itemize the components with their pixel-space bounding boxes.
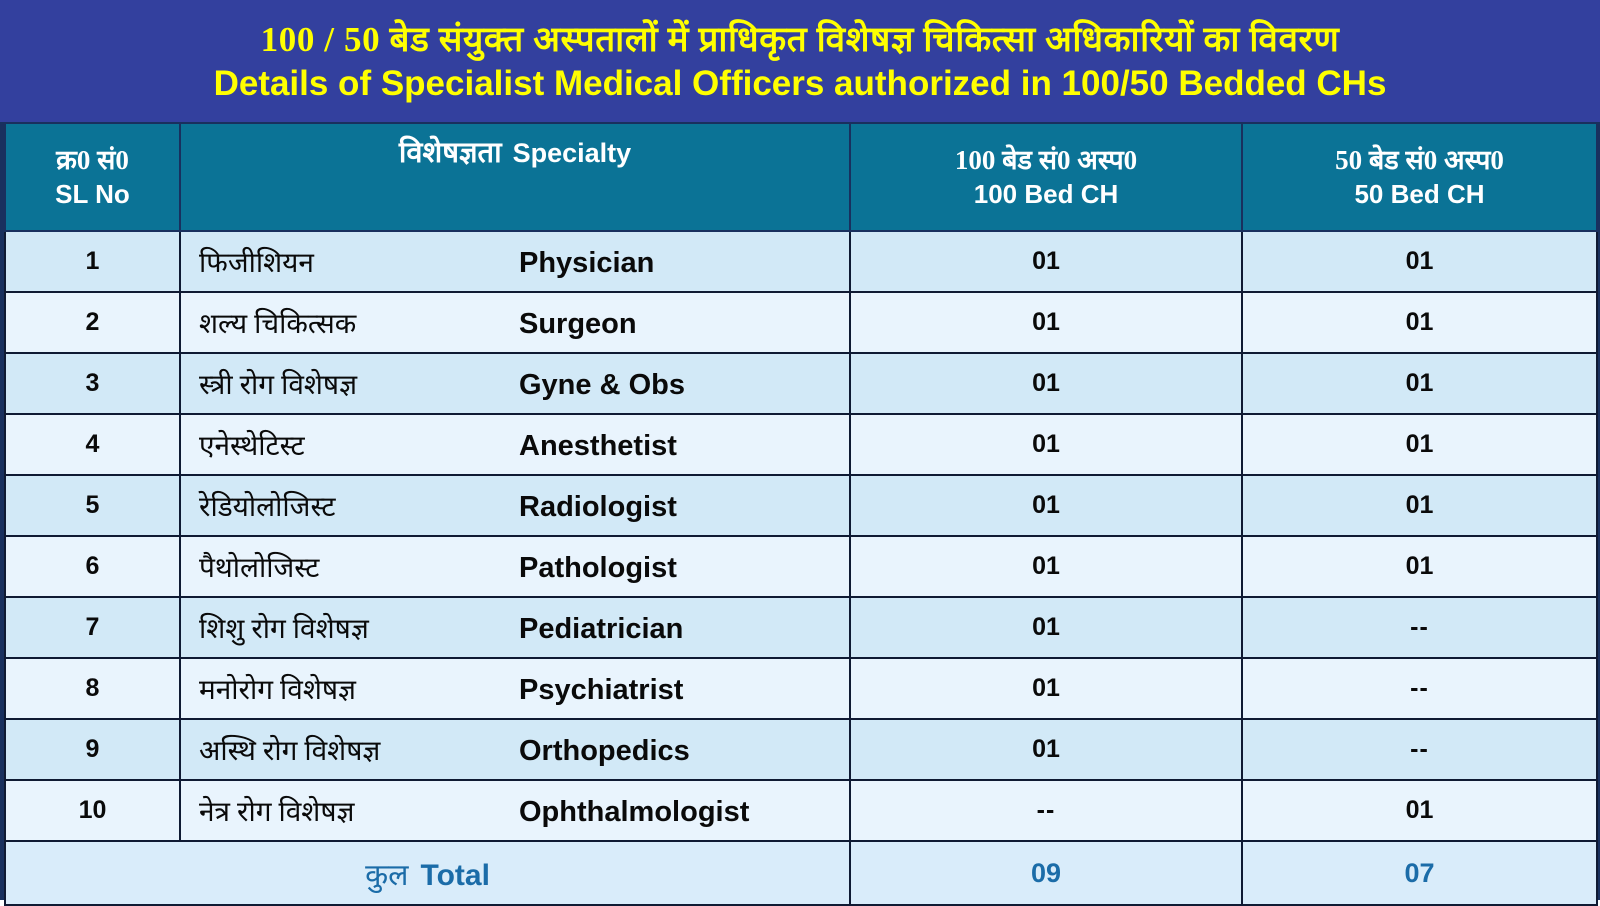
- cell-sl-no: 1: [5, 231, 180, 292]
- cell-50-bed-count: 01: [1242, 536, 1597, 597]
- cell-specialty-english: Gyne & Obs: [519, 369, 685, 402]
- table-body: 1 फिजीशियन Physician 01 01 2 शल्य चिकि: [5, 231, 1597, 841]
- cell-specialty-hindi: रेडियोलोजिस्ट: [199, 487, 519, 525]
- cell-specialty-hindi: मनोरोग विशेषज्ञ: [199, 670, 519, 708]
- table-row: 4 एनेस्थेटिस्ट Anesthetist 01 01: [5, 414, 1597, 475]
- total-label-cell: कुल Total: [5, 841, 850, 905]
- cell-100-bed-count: 01: [850, 353, 1242, 414]
- column-header-100-bed-ch-hindi: 100 बेड सं0 अस्प0: [955, 145, 1137, 176]
- cell-specialty: शिशु रोग विशेषज्ञ Pediatrician: [180, 597, 850, 658]
- cell-100-bed-count: 01: [850, 597, 1242, 658]
- cell-specialty-english: Psychiatrist: [519, 674, 683, 707]
- total-label-hindi: कुल: [365, 853, 408, 894]
- cell-specialty-english: Physician: [519, 247, 654, 280]
- cell-specialty-hindi: नेत्र रोग विशेषज्ञ: [199, 792, 519, 830]
- cell-50-bed-count: 01: [1242, 414, 1597, 475]
- table-footer: कुल Total 09 07: [5, 841, 1597, 905]
- specialist-officers-table: क्र0 सं0 SL No विशेषज्ञता Specialty: [4, 122, 1598, 906]
- cell-50-bed-count: 01: [1242, 353, 1597, 414]
- cell-sl-no: 10: [5, 780, 180, 841]
- cell-50-bed-count: 01: [1242, 475, 1597, 536]
- title-banner: 100 / 50 बेड संयुक्त अस्पतालों में प्राध…: [0, 0, 1600, 122]
- cell-sl-no: 9: [5, 719, 180, 780]
- cell-specialty-hindi: शल्य चिकित्सक: [199, 304, 519, 342]
- page-title-hindi: 100 / 50 बेड संयुक्त अस्पतालों में प्राध…: [261, 21, 1340, 59]
- cell-100-bed-count: 01: [850, 475, 1242, 536]
- cell-specialty: एनेस्थेटिस्ट Anesthetist: [180, 414, 850, 475]
- table-header-row: क्र0 सं0 SL No विशेषज्ञता Specialty: [5, 123, 1597, 231]
- table-row: 3 स्त्री रोग विशेषज्ञ Gyne & Obs 01 01: [5, 353, 1597, 414]
- cell-specialty: अस्थि रोग विशेषज्ञ Orthopedics: [180, 719, 850, 780]
- column-header-50-bed-ch-hindi: 50 बेड सं0 अस्प0: [1335, 145, 1504, 176]
- column-header-100-bed-ch: 100 बेड सं0 अस्प0 100 Bed CH: [850, 123, 1242, 231]
- specialist-medical-officers-table-page: 100 / 50 बेड संयुक्त अस्पतालों में प्राध…: [0, 0, 1600, 900]
- cell-specialty: रेडियोलोजिस्ट Radiologist: [180, 475, 850, 536]
- cell-100-bed-count: 01: [850, 536, 1242, 597]
- cell-50-bed-count: --: [1242, 597, 1597, 658]
- table-row: 8 मनोरोग विशेषज्ञ Psychiatrist 01 --: [5, 658, 1597, 719]
- cell-specialty-hindi: पैथोलोजिस्ट: [199, 548, 519, 586]
- table-header: क्र0 सं0 SL No विशेषज्ञता Specialty: [5, 123, 1597, 231]
- cell-specialty-english: Surgeon: [519, 308, 637, 341]
- cell-specialty-english: Pathologist: [519, 552, 677, 585]
- cell-sl-no: 8: [5, 658, 180, 719]
- cell-specialty: मनोरोग विशेषज्ञ Psychiatrist: [180, 658, 850, 719]
- cell-100-bed-count: 01: [850, 231, 1242, 292]
- cell-100-bed-count: 01: [850, 414, 1242, 475]
- column-header-specialty-hindi: विशेषज्ञता: [399, 137, 502, 171]
- cell-50-bed-count: 01: [1242, 780, 1597, 841]
- cell-specialty-english: Anesthetist: [519, 430, 677, 463]
- table-row: 7 शिशु रोग विशेषज्ञ Pediatrician 01 --: [5, 597, 1597, 658]
- cell-specialty-hindi: शिशु रोग विशेषज्ञ: [199, 609, 519, 647]
- cell-sl-no: 3: [5, 353, 180, 414]
- total-label-english: Total: [420, 859, 489, 893]
- cell-50-bed-count: 01: [1242, 292, 1597, 353]
- cell-100-bed-count: 01: [850, 719, 1242, 780]
- data-table-container: क्र0 सं0 SL No विशेषज्ञता Specialty: [0, 122, 1600, 900]
- column-header-100-bed-ch-english: 100 Bed CH: [974, 179, 1119, 209]
- cell-sl-no: 2: [5, 292, 180, 353]
- column-header-sl-no-hindi: क्र0 सं0: [56, 145, 129, 176]
- cell-specialty-english: Radiologist: [519, 491, 677, 524]
- cell-50-bed-count: --: [1242, 719, 1597, 780]
- column-header-specialty-english: Specialty: [513, 138, 632, 169]
- table-row: 2 शल्य चिकित्सक Surgeon 01 01: [5, 292, 1597, 353]
- total-100-bed-count: 09: [850, 841, 1242, 905]
- cell-100-bed-count: 01: [850, 658, 1242, 719]
- cell-specialty: शल्य चिकित्सक Surgeon: [180, 292, 850, 353]
- column-header-50-bed-ch: 50 बेड सं0 अस्प0 50 Bed CH: [1242, 123, 1597, 231]
- cell-specialty-hindi: अस्थि रोग विशेषज्ञ: [199, 731, 519, 769]
- page-title-english: Details of Specialist Medical Officers a…: [214, 65, 1387, 104]
- column-header-50-bed-ch-english: 50 Bed CH: [1354, 179, 1484, 209]
- column-header-specialty: विशेषज्ञता Specialty: [180, 123, 850, 231]
- table-row: 1 फिजीशियन Physician 01 01: [5, 231, 1597, 292]
- cell-sl-no: 6: [5, 536, 180, 597]
- table-row: 6 पैथोलोजिस्ट Pathologist 01 01: [5, 536, 1597, 597]
- cell-specialty-hindi: स्त्री रोग विशेषज्ञ: [199, 365, 519, 403]
- total-50-bed-count: 07: [1242, 841, 1597, 905]
- cell-sl-no: 4: [5, 414, 180, 475]
- cell-specialty: पैथोलोजिस्ट Pathologist: [180, 536, 850, 597]
- cell-100-bed-count: --: [850, 780, 1242, 841]
- cell-sl-no: 7: [5, 597, 180, 658]
- total-row: कुल Total 09 07: [5, 841, 1597, 905]
- cell-50-bed-count: --: [1242, 658, 1597, 719]
- cell-specialty-english: Orthopedics: [519, 735, 690, 768]
- cell-100-bed-count: 01: [850, 292, 1242, 353]
- cell-50-bed-count: 01: [1242, 231, 1597, 292]
- cell-specialty: फिजीशियन Physician: [180, 231, 850, 292]
- table-row: 9 अस्थि रोग विशेषज्ञ Orthopedics 01 --: [5, 719, 1597, 780]
- cell-specialty: नेत्र रोग विशेषज्ञ Ophthalmologist: [180, 780, 850, 841]
- cell-specialty-english: Ophthalmologist: [519, 796, 749, 829]
- table-row: 5 रेडियोलोजिस्ट Radiologist 01 01: [5, 475, 1597, 536]
- cell-sl-no: 5: [5, 475, 180, 536]
- cell-specialty-hindi: एनेस्थेटिस्ट: [199, 426, 519, 464]
- cell-specialty-english: Pediatrician: [519, 613, 683, 646]
- column-header-sl-no-english: SL No: [55, 179, 130, 209]
- column-header-sl-no: क्र0 सं0 SL No: [5, 123, 180, 231]
- cell-specialty: स्त्री रोग विशेषज्ञ Gyne & Obs: [180, 353, 850, 414]
- table-row: 10 नेत्र रोग विशेषज्ञ Ophthalmologist --…: [5, 780, 1597, 841]
- cell-specialty-hindi: फिजीशियन: [199, 243, 519, 281]
